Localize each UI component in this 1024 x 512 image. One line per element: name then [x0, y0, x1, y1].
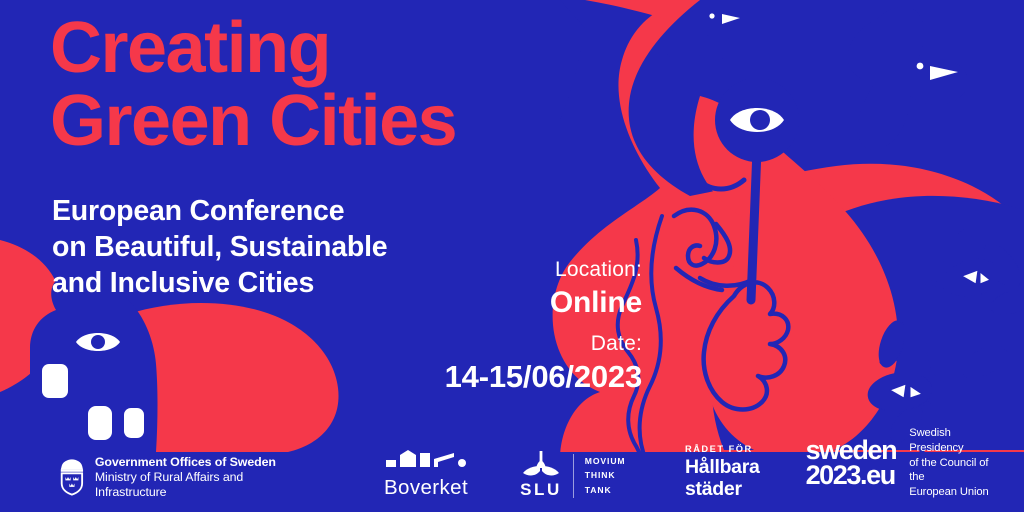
- movium-line2: THINK TANK: [585, 468, 637, 496]
- logo-sweden-presidency: sweden 2023.eu Swedish Presidency of the…: [806, 426, 994, 500]
- sweden-desc-line2: of the Council of the: [909, 456, 994, 486]
- location-value: Online: [445, 284, 642, 322]
- sweden-desc-line1: Swedish Presidency: [909, 426, 994, 456]
- page-title: Creating Green Cities: [50, 12, 456, 159]
- sweden-wordmark: sweden 2023.eu: [806, 438, 897, 488]
- logo-bar: Government Offices of Sweden Ministry of…: [0, 442, 1024, 512]
- government-line1: Government Offices of Sweden: [95, 455, 302, 470]
- sweden-description: Swedish Presidency of the Council of the…: [909, 426, 994, 500]
- event-details: Location: Online Date: 14-15/06/2023: [445, 256, 642, 397]
- slu-leaf-icon: [521, 451, 561, 481]
- house-eye-pupil: [91, 335, 105, 349]
- house-window-large: [42, 364, 68, 398]
- date-label: Date:: [445, 330, 642, 358]
- logo-government-offices: Government Offices of Sweden Ministry of…: [58, 455, 302, 500]
- radet-kicker: RÅDET FÖR: [685, 444, 753, 454]
- building-skyline-icon: [384, 449, 468, 475]
- boverket-wordmark: Boverket: [384, 476, 468, 500]
- logo-radet-hallbara-stader: RÅDET FÖR Hållbara städer: [685, 444, 760, 500]
- logo-boverket: Boverket: [384, 449, 468, 500]
- radet-line2: städer: [685, 479, 742, 500]
- sweden-mark-line2: 2023.eu: [806, 463, 897, 488]
- magnifier-pupil: [750, 110, 770, 130]
- location-label: Location:: [445, 256, 642, 284]
- logo-divider: [573, 454, 574, 498]
- logo-slu-movium: SLU MOVIUM THINK TANK: [520, 451, 637, 500]
- swedish-three-crowns-crest-icon: [58, 457, 86, 497]
- poster-canvas: Creating Green Cities European Conferenc…: [0, 0, 1024, 512]
- slu-wordmark: SLU: [520, 480, 562, 500]
- magnifier-handle: [751, 150, 757, 300]
- movium-line1: MOVIUM: [585, 454, 637, 468]
- date-value: 14-15/06/2023: [445, 358, 642, 397]
- page-subtitle: European Conference on Beautiful, Sustai…: [52, 194, 387, 302]
- government-line2: Ministry of Rural Affairs and Infrastruc…: [95, 470, 302, 500]
- radet-line1: Hållbara: [685, 457, 760, 478]
- sweden-desc-line3: European Union: [909, 485, 994, 500]
- movium-text: MOVIUM THINK TANK: [585, 454, 637, 497]
